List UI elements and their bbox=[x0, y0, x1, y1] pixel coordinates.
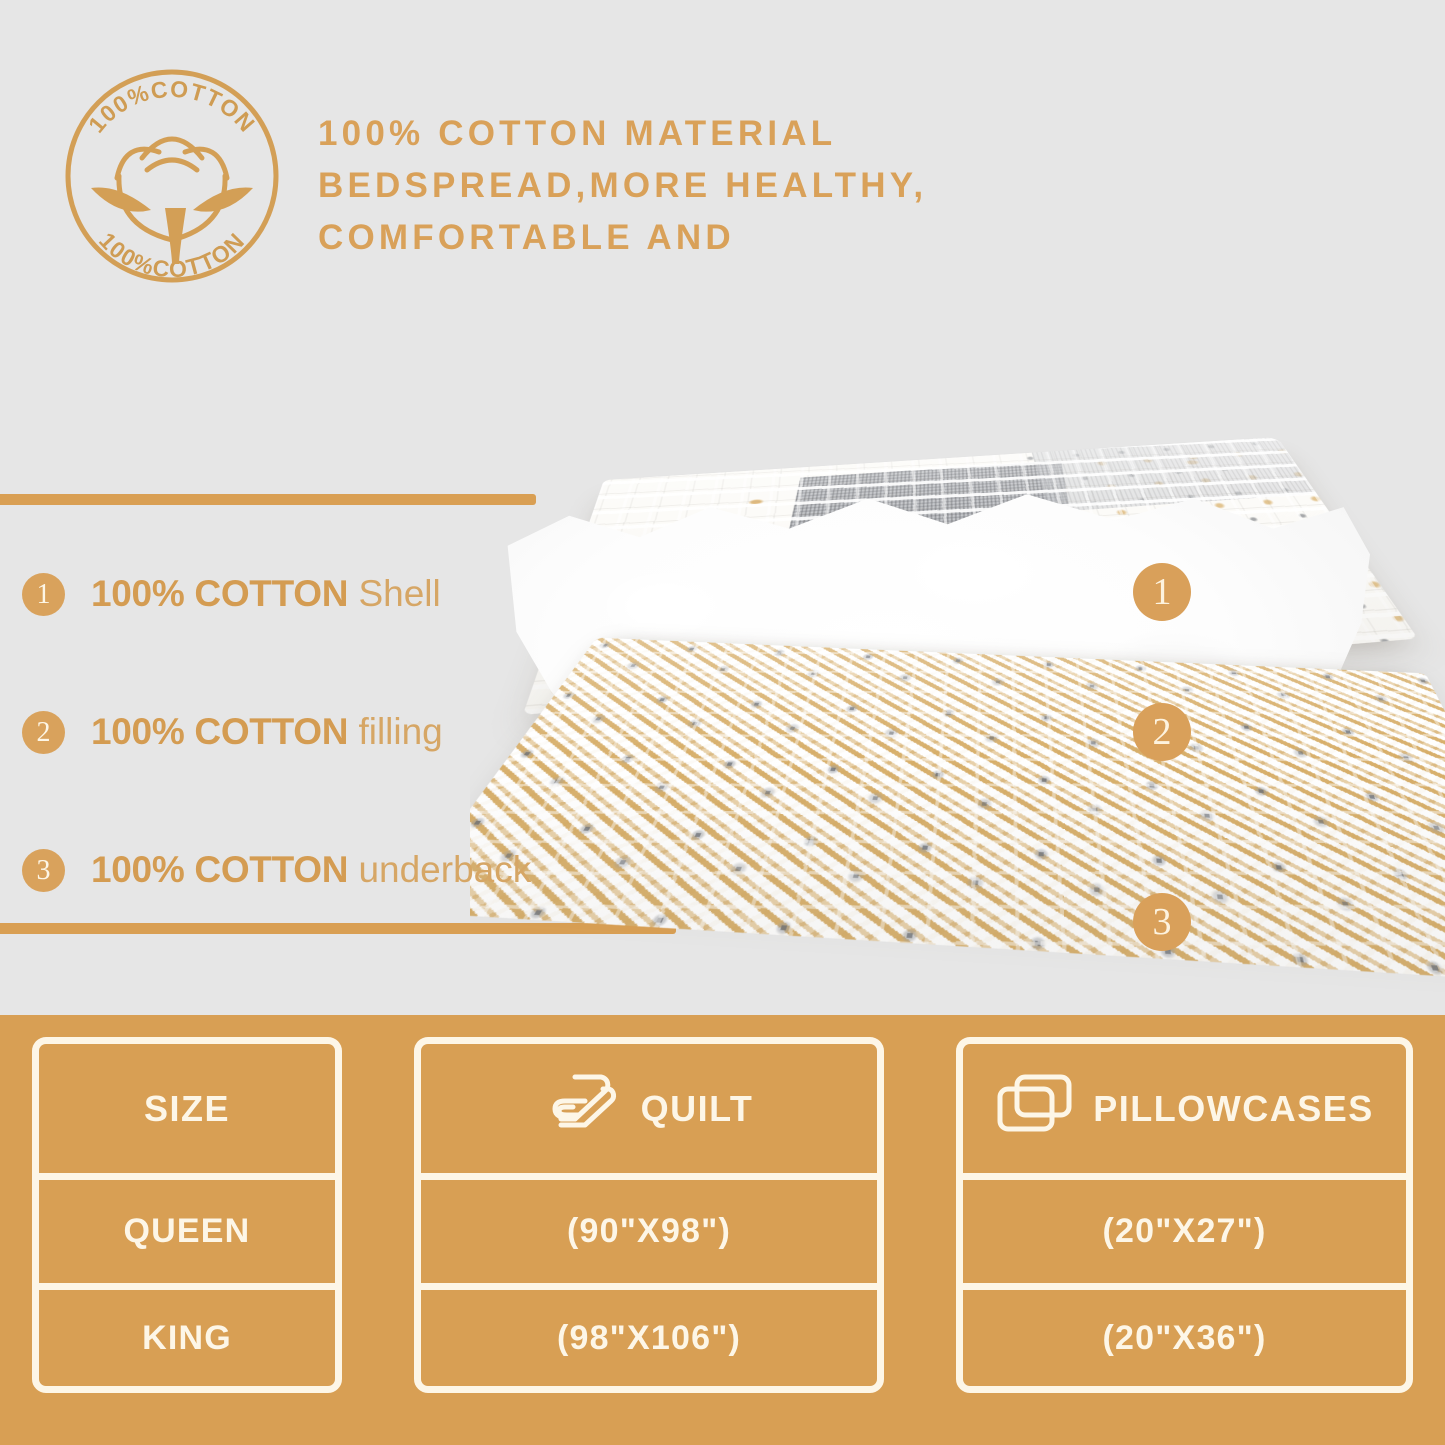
pillowcases-icon bbox=[995, 1071, 1075, 1146]
table-header-quilt-label: QUILT bbox=[641, 1088, 754, 1130]
feature-label-1: 100% COTTON Shell bbox=[91, 573, 441, 615]
table-cell-king-size: KING bbox=[32, 1283, 342, 1393]
callout-badge-1: 1 bbox=[1133, 563, 1191, 621]
divider-top bbox=[0, 494, 536, 505]
feature-strong-2: 100% COTTON bbox=[91, 711, 348, 752]
table-cell-king-pillowcases: (20"X36") bbox=[956, 1283, 1413, 1393]
feature-light-3: underback bbox=[358, 849, 531, 890]
feature-list: 1 100% COTTON Shell 2 100% COTTON fillin… bbox=[22, 556, 722, 970]
size-chart-grid: SIZE QUILT bbox=[32, 1037, 1413, 1431]
infographic-page: 100%COTTON 100%COTTON 100% COTTON MATERI… bbox=[0, 0, 1445, 1445]
feature-strong-3: 100% COTTON bbox=[91, 849, 348, 890]
feature-badge-2: 2 bbox=[22, 711, 65, 754]
size-chart-table: SIZE QUILT bbox=[0, 1015, 1445, 1445]
feature-item-filling: 2 100% COTTON filling bbox=[22, 694, 722, 770]
feature-label-3: 100% COTTON underback bbox=[91, 849, 531, 891]
feature-badge-1: 1 bbox=[22, 573, 65, 616]
feature-light-2: filling bbox=[358, 711, 442, 752]
callout-badge-2: 2 bbox=[1133, 703, 1191, 761]
table-header-quilt: QUILT bbox=[414, 1037, 884, 1173]
feature-item-underback: 3 100% COTTON underback bbox=[22, 832, 722, 908]
table-cell-queen-pillowcases: (20"X27") bbox=[956, 1173, 1413, 1283]
feature-light-1: Shell bbox=[358, 573, 440, 614]
headline-line-2: BEDSPREAD,MORE HEALTHY, bbox=[318, 160, 1118, 212]
table-header-pillowcases-label: PILLOWCASES bbox=[1093, 1088, 1374, 1130]
table-cell-queen-size: QUEEN bbox=[32, 1173, 342, 1283]
folded-quilt-icon bbox=[545, 1069, 623, 1148]
table-cell-king-quilt: (98"X106") bbox=[414, 1283, 884, 1393]
feature-item-shell: 1 100% COTTON Shell bbox=[22, 556, 722, 632]
svg-text:100%COTTON: 100%COTTON bbox=[83, 76, 261, 138]
table-header-size-label: SIZE bbox=[144, 1088, 230, 1130]
feature-label-2: 100% COTTON filling bbox=[91, 711, 443, 753]
feature-strong-1: 100% COTTON bbox=[91, 573, 348, 614]
callout-badge-3: 3 bbox=[1133, 893, 1191, 951]
headline-line-1: 100% COTTON MATERIAL bbox=[318, 108, 1118, 160]
cotton-seal-icon: 100%COTTON 100%COTTON bbox=[47, 58, 297, 295]
table-header-pillowcases: PILLOWCASES bbox=[956, 1037, 1413, 1173]
feature-badge-3: 3 bbox=[22, 849, 65, 892]
table-cell-queen-quilt: (90"X98") bbox=[414, 1173, 884, 1283]
table-header-size: SIZE bbox=[32, 1037, 342, 1173]
